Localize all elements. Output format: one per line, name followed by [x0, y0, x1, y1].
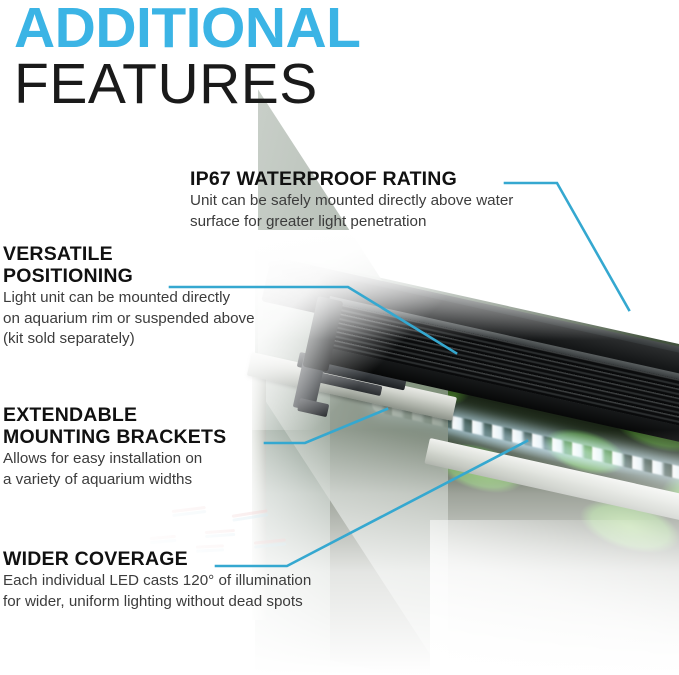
callout-body-line: Each individual LED casts 120° of illumi… [3, 571, 311, 590]
callout-heading: POSITIONING [3, 265, 255, 287]
callout-body-line: for wider, uniform lighting without dead… [3, 592, 311, 611]
callout-wider-coverage: WIDER COVERAGE Each individual LED casts… [3, 548, 311, 611]
infographic-canvas: ADDITIONAL FEATURES IP67 WATERPROOF RATI… [0, 0, 679, 675]
callout-body-line: Allows for easy installation on [3, 449, 226, 468]
callout-extendable-mounting-brackets: EXTENDABLE MOUNTING BRACKETS Allows for … [3, 404, 226, 489]
callout-body-line: on aquarium rim or suspended above [3, 309, 255, 328]
callout-heading: IP67 WATERPROOF RATING [190, 168, 513, 190]
leader-line-ip67 [505, 183, 629, 310]
callout-body-line: a variety of aquarium widths [3, 470, 226, 489]
title-line-additional: ADDITIONAL [14, 2, 360, 56]
callout-heading: MOUNTING BRACKETS [3, 426, 226, 448]
page-title: ADDITIONAL FEATURES [14, 2, 360, 111]
callout-versatile-positioning: VERSATILE POSITIONING Light unit can be … [3, 243, 255, 349]
callout-heading: WIDER COVERAGE [3, 548, 311, 570]
callout-body-line: Unit can be safely mounted directly abov… [190, 191, 513, 210]
callout-body-line: surface for greater light penetration [190, 212, 513, 231]
leader-line-extendable-brackets [265, 409, 387, 443]
title-line-features: FEATURES [14, 58, 360, 112]
callout-heading: VERSATILE [3, 243, 255, 265]
callout-body-line: (kit sold separately) [3, 329, 255, 348]
callout-heading: EXTENDABLE [3, 404, 226, 426]
callout-body-line: Light unit can be mounted directly [3, 288, 255, 307]
callout-ip67-waterproof-rating: IP67 WATERPROOF RATING Unit can be safel… [190, 168, 513, 231]
